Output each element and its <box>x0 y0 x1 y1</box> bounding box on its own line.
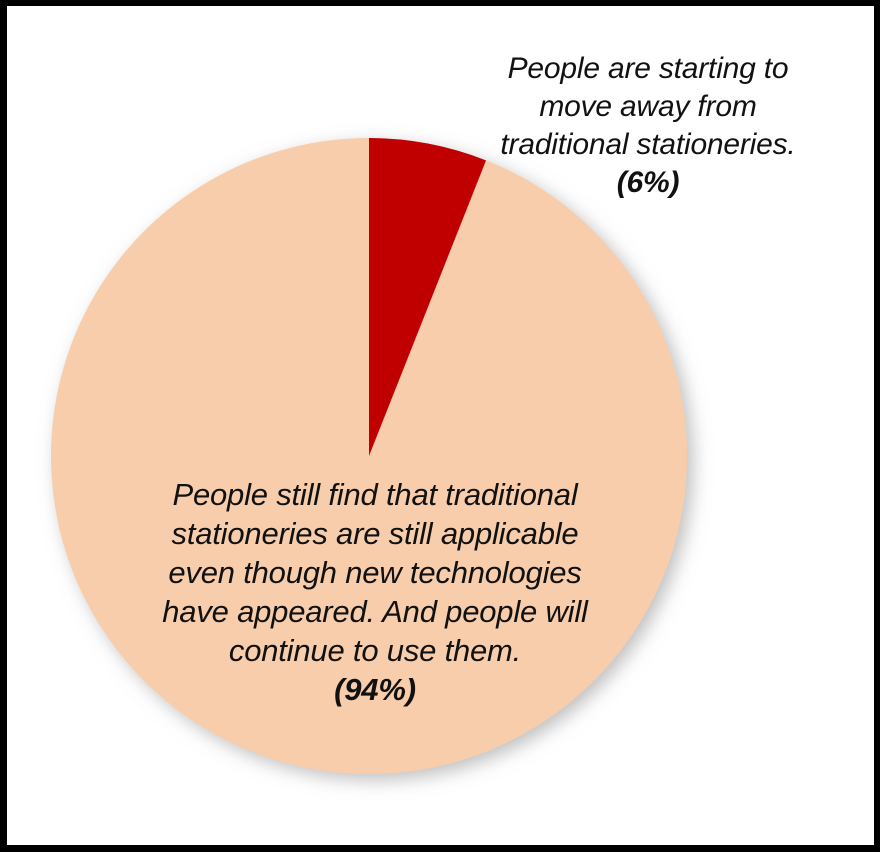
slice-label-majority-line-4: have appeared. And people will <box>115 592 635 631</box>
slice-label-majority: People still find that traditional stati… <box>115 475 635 709</box>
slice-label-minority: People are starting to move away from tr… <box>462 50 834 202</box>
pie-chart: People are starting to move away from tr… <box>7 6 874 845</box>
slice-label-minority-line-3: traditional stationeries. <box>462 126 834 164</box>
slice-label-majority-line-5: continue to use them. <box>115 631 635 670</box>
slice-percent-majority: (94%) <box>115 670 635 709</box>
slice-percent-minority: (6%) <box>462 164 834 202</box>
slice-label-minority-line-2: move away from <box>462 88 834 126</box>
slice-label-majority-line-1: People still find that traditional <box>115 475 635 514</box>
slide-frame: People are starting to move away from tr… <box>0 0 880 852</box>
slice-label-minority-line-1: People are starting to <box>462 50 834 88</box>
slice-label-majority-line-2: stationeries are still applicable <box>115 514 635 553</box>
slice-label-majority-line-3: even though new technologies <box>115 553 635 592</box>
